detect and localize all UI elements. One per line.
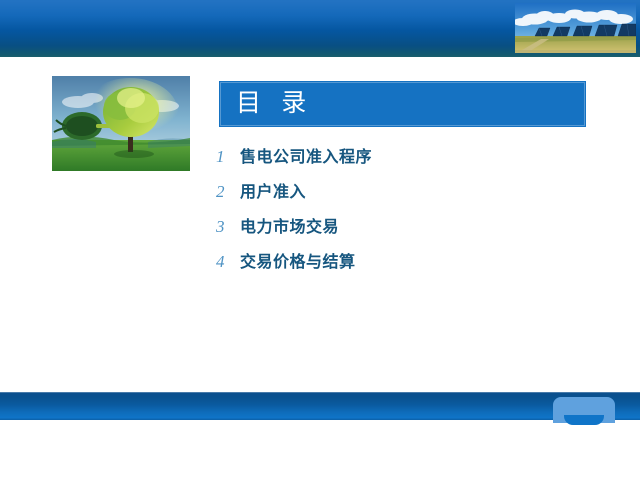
toc-item-4[interactable]: 4 交易价格与结算 [214,248,584,283]
presentation-slide: 目 录 1 售电公司准入程序 2 用户准入 3 电力市场交易 4 交易价格与结算 [0,0,640,480]
toc-label: 交易价格与结算 [240,248,356,272]
solar-panel-photo [515,3,636,53]
toc-number: 2 [214,182,240,202]
table-of-contents: 1 售电公司准入程序 2 用户准入 3 电力市场交易 4 交易价格与结算 [214,143,584,283]
eco-tree-photo [52,76,190,171]
toc-label: 用户准入 [240,178,306,202]
toc-label: 售电公司准入程序 [240,143,372,167]
toc-item-1[interactable]: 1 售电公司准入程序 [214,143,584,178]
toc-number: 4 [214,252,240,272]
toc-item-3[interactable]: 3 电力市场交易 [214,213,584,248]
toc-number: 1 [214,147,240,167]
toc-item-2[interactable]: 2 用户准入 [214,178,584,213]
toc-number: 3 [214,217,240,237]
footer-badge-notch [564,415,604,425]
footer-bar-highlight [0,392,640,393]
section-title-bar: 目 录 [219,81,586,127]
footer-bar [0,392,640,420]
toc-label: 电力市场交易 [240,213,339,237]
page-title: 目 录 [236,88,313,120]
